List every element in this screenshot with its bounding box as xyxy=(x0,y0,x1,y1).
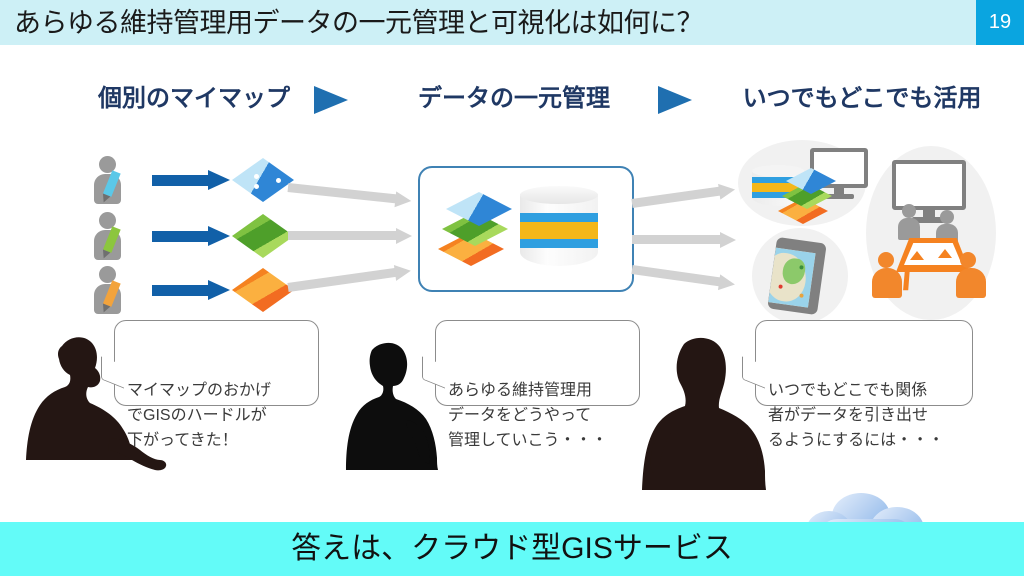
small-map-layers-icon xyxy=(778,168,838,228)
database-cylinder-icon xyxy=(520,186,598,274)
page-title: あらゆる維持管理用データの一元管理と可視化は如何に？ xyxy=(14,3,944,43)
slide-canvas: あらゆる維持管理用データの一元管理と可視化は如何に？ 19 個別のマイマップ デ… xyxy=(0,0,1024,576)
speech-bubble-middle-text: あらゆる維持管理用 データをどうやって 管理していこう・・・ xyxy=(448,382,608,449)
gray-arrow-icon-right-2 xyxy=(632,232,738,247)
page-number-badge: 19 xyxy=(976,0,1024,45)
mymap-row-2 xyxy=(90,212,290,262)
meeting-people-icon xyxy=(874,196,992,314)
section-heading-unified-data: データの一元管理 xyxy=(404,82,624,116)
speech-bubble-left: マイマップのおかげ でGISのハードルが 下がってきた！ xyxy=(114,320,319,406)
woman-silhouette-right xyxy=(638,334,770,490)
gray-arrow-icon-left-3 xyxy=(287,263,414,295)
mymap-row-1 xyxy=(90,156,290,206)
gray-arrow-icon-left-2 xyxy=(288,228,414,243)
green-map-layer-icon xyxy=(232,214,294,258)
speech-bubble-right: いつでもどこでも関係 者がデータを引き出せ るようにするには・・・ xyxy=(755,320,973,406)
section-arrow-right-icon-1 xyxy=(314,86,348,114)
speech-bubble-right-text: いつでもどこでも関係 者がデータを引き出せ るようにするには・・・ xyxy=(768,382,944,449)
tablet-map-icon xyxy=(772,240,822,312)
gray-arrow-icon-left-1 xyxy=(287,180,414,208)
section-heading-anytime-anywhere: いつでもどこでも活用 xyxy=(722,82,1002,116)
flow-arrow-right-icon xyxy=(152,280,230,300)
section-arrow-right-icon-2 xyxy=(658,86,692,114)
blue-map-layer-icon xyxy=(232,158,294,202)
speech-bubble-left-text: マイマップのおかげ でGISのハードルが 下がってきた！ xyxy=(127,382,271,449)
orange-map-layer-icon xyxy=(232,268,294,312)
mymap-row-3 xyxy=(90,266,290,316)
gray-arrow-icon-right-1 xyxy=(631,181,738,211)
section-heading-individual-mymap: 個別のマイマップ xyxy=(84,82,304,116)
stacked-map-layers-icon xyxy=(438,192,516,272)
speech-bubble-middle: あらゆる維持管理用 データをどうやって 管理していこう・・・ xyxy=(435,320,640,406)
gray-arrow-icon-right-3 xyxy=(631,262,738,292)
footer-text: 答えは、クラウド型GISサービス xyxy=(0,524,1024,574)
flow-arrow-right-icon xyxy=(152,170,230,190)
flow-arrow-right-icon xyxy=(152,226,230,246)
